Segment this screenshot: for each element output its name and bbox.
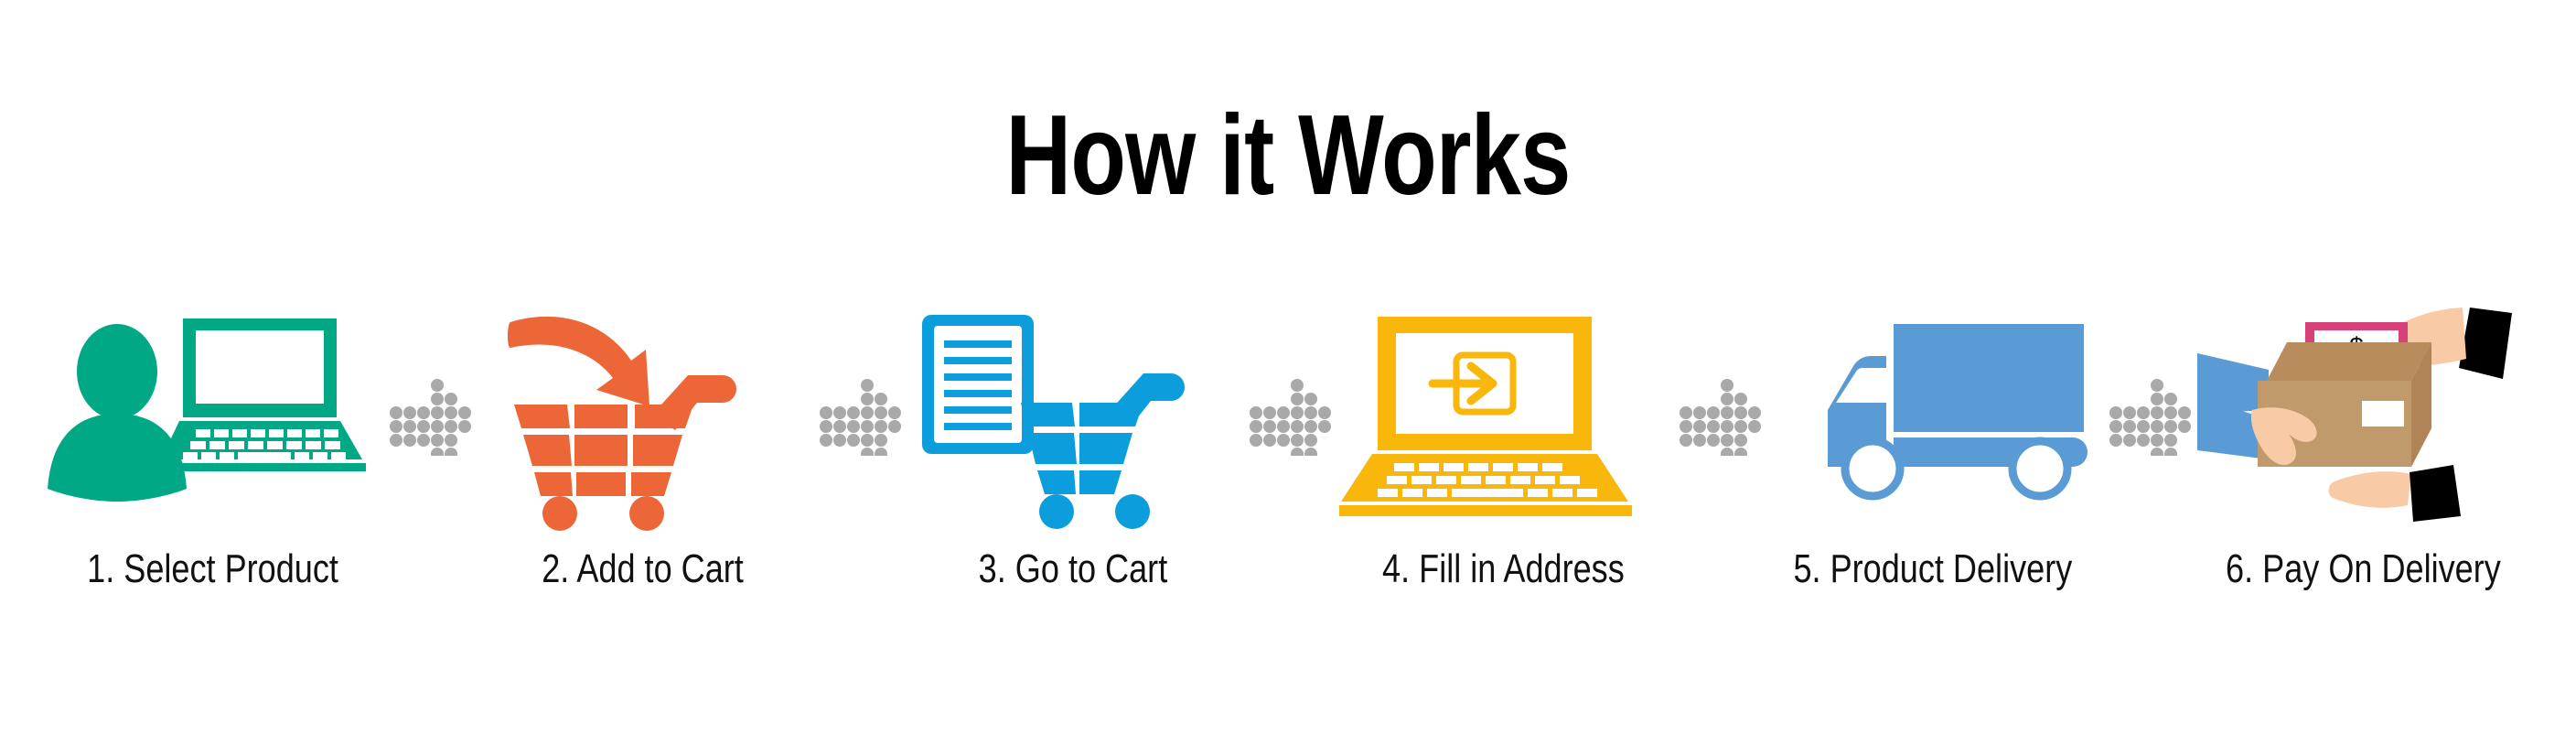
step-2-label: 2. Add to Cart: [542, 547, 745, 591]
step-5-label: 5. Product Delivery: [1794, 547, 2073, 591]
person-at-laptop-icon: [46, 302, 381, 531]
dotted-arrow-right-icon: [1670, 302, 1766, 531]
steps-row: 1. Select Product: [0, 302, 2576, 591]
dotted-arrow-right-icon: [2100, 302, 2195, 531]
dotted-arrow-right-icon: [810, 302, 906, 531]
step-2-add-to-cart[interactable]: 2. Add to Cart: [476, 302, 810, 591]
step-5-product-delivery[interactable]: 5. Product Delivery: [1766, 302, 2100, 591]
dotted-arrow-right-icon: [381, 302, 476, 531]
document-with-cart-icon: [906, 302, 1240, 531]
step-4-fill-in-address[interactable]: 4. Fill in Address: [1336, 302, 1670, 591]
arrow-into-cart-icon: [476, 302, 810, 531]
laptop-login-form-icon: [1336, 302, 1670, 531]
step-3-go-to-cart[interactable]: 3. Go to Cart: [906, 302, 1240, 591]
page-title: How it Works: [258, 99, 2319, 212]
step-6-pay-on-delivery[interactable]: $: [2195, 302, 2530, 591]
delivery-truck-icon: [1766, 302, 2100, 531]
dotted-arrow-right-icon: [1240, 302, 1336, 531]
step-1-select-product[interactable]: 1. Select Product: [46, 302, 381, 591]
how-it-works-infographic: How it Works: [0, 0, 2576, 745]
step-4-label: 4. Fill in Address: [1382, 547, 1625, 591]
step-1-label: 1. Select Product: [88, 547, 339, 591]
hands-exchanging-box-and-cash-icon: $: [2195, 302, 2530, 531]
step-3-label: 3. Go to Cart: [979, 547, 1168, 591]
step-6-label: 6. Pay On Delivery: [2226, 547, 2501, 591]
